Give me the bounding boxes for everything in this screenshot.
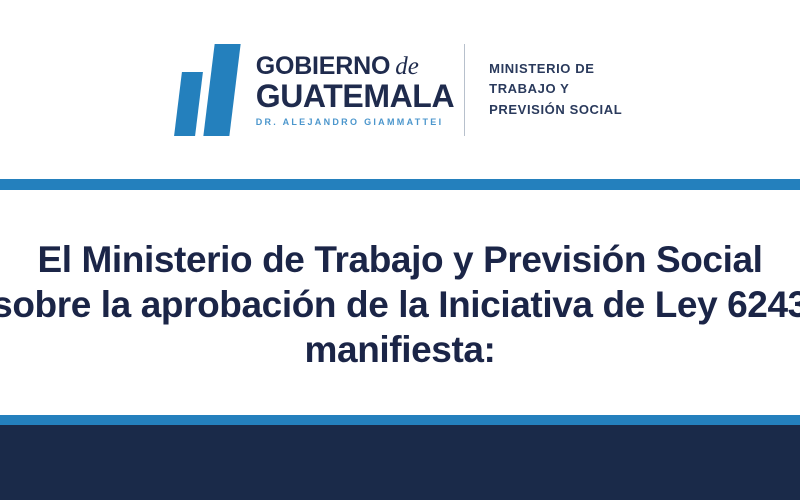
headline-line-1: El Ministerio de Trabajo y Previsión Soc… (0, 237, 800, 282)
brand-wordmark: GOBIERNOde GUATEMALA DR. ALEJANDRO GIAMM… (256, 51, 454, 129)
brand-gobierno-text: GOBIERNO (256, 52, 391, 80)
guatemala-flag-bars-icon (178, 44, 240, 136)
lockup-vertical-divider (464, 44, 465, 136)
flag-bar-tall-icon (203, 44, 240, 136)
footer-accent-rule (0, 415, 800, 425)
headline: El Ministerio de Trabajo y Previsión Soc… (0, 237, 800, 372)
flag-bar-short-icon (174, 72, 203, 136)
brand-de-text: de (395, 53, 419, 80)
headline-line-2: sobre la aprobación de la Iniciativa de … (0, 282, 800, 327)
header-band: GOBIERNOde GUATEMALA DR. ALEJANDRO GIAMM… (0, 0, 800, 179)
brand-president-name: DR. ALEJANDRO GIAMMATTEI (256, 116, 454, 129)
body-band: El Ministerio de Trabajo y Previsión Soc… (0, 190, 800, 415)
ministry-name-block: MINISTERIO DE TRABAJO Y PREVISIÓN SOCIAL (489, 59, 622, 121)
headline-line-3: manifiesta: (0, 327, 800, 372)
header-accent-rule (0, 179, 800, 190)
brand-guatemala-text: GUATEMALA (256, 80, 454, 112)
slide-canvas: GOBIERNOde GUATEMALA DR. ALEJANDRO GIAMM… (0, 0, 800, 500)
ministry-name-line-3: PREVISIÓN SOCIAL (489, 100, 622, 121)
footer-block (0, 425, 800, 500)
ministry-name-line-2: TRABAJO Y (489, 79, 622, 100)
government-logo-lockup: GOBIERNOde GUATEMALA DR. ALEJANDRO GIAMM… (0, 0, 800, 179)
brand-gobierno-line: GOBIERNOde (256, 53, 454, 80)
ministry-name-line-1: MINISTERIO DE (489, 59, 622, 80)
